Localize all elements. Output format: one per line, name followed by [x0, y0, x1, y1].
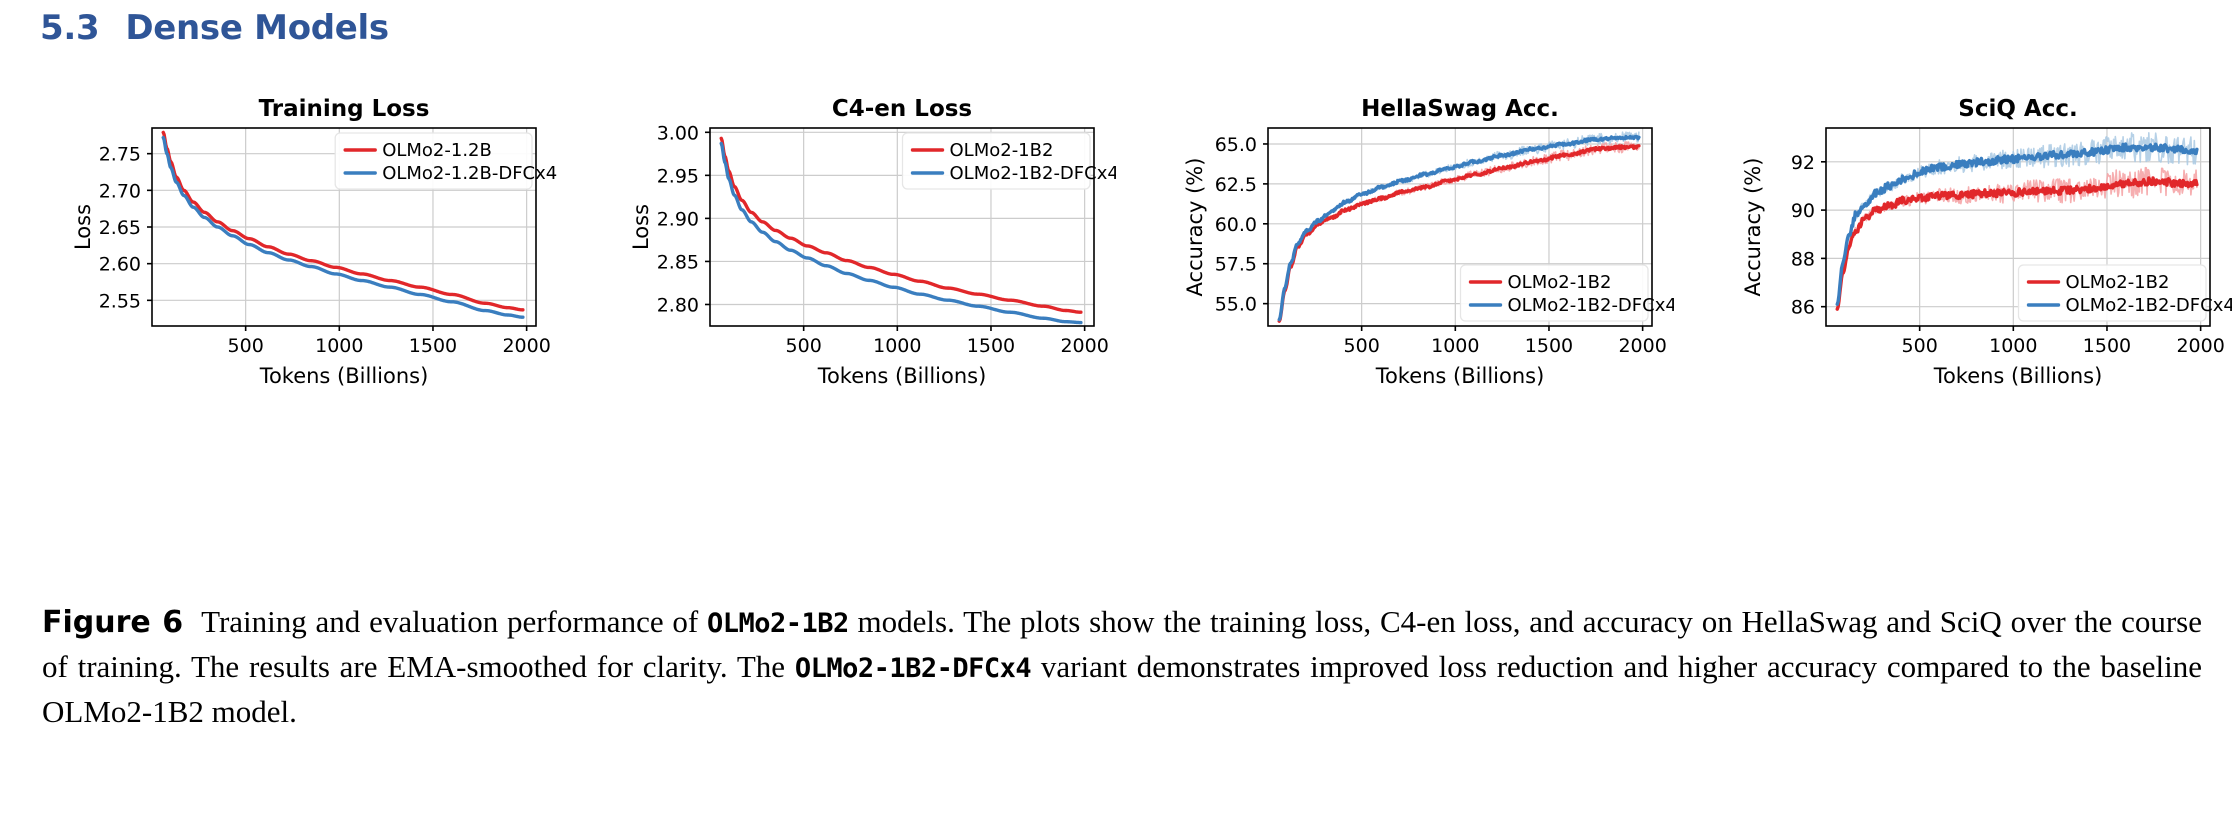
y-tick-2.60: 2.60 — [99, 254, 141, 276]
x-tick-1000: 1000 — [1431, 335, 1479, 357]
figure-panels: 5001000150020002.552.602.652.702.75Train… — [0, 88, 2234, 393]
panel-hellaswag-acc: 50010001500200055.057.560.062.565.0Hella… — [1116, 88, 1674, 393]
chart-hellaswag-acc: 50010001500200055.057.560.062.565.0Hella… — [1116, 88, 1674, 393]
chart-c4-en-loss: 5001000150020002.802.852.902.953.00C4-en… — [558, 88, 1116, 393]
chart-legend[interactable]: OLMo2-1.2BOLMo2-1.2B-DFCx4 — [335, 133, 557, 189]
figure-label: Figure 6 — [42, 605, 183, 640]
chart-title: C4-en Loss — [832, 96, 972, 122]
y-tick-88: 88 — [1791, 248, 1815, 270]
panel-sciq-acc: 50010001500200086889092SciQ Acc.Tokens (… — [1674, 88, 2232, 393]
x-tick-1000: 1000 — [1989, 335, 2037, 357]
legend-label-OLMo2-1B2: OLMo2-1B2 — [1508, 272, 1612, 293]
y-tick-2.80: 2.80 — [657, 294, 699, 316]
x-tick-2000: 2000 — [1060, 335, 1108, 357]
section-heading: 5.3 Dense Models — [40, 8, 389, 48]
x-axis-label: Tokens (Billions) — [259, 364, 429, 388]
chart-training-loss: 5001000150020002.552.602.652.702.75Train… — [0, 88, 558, 393]
y-tick-2.55: 2.55 — [99, 290, 141, 312]
chart-title: HellaSwag Acc. — [1361, 96, 1559, 122]
y-axis-label: Accuracy (%) — [1183, 158, 1207, 297]
legend-label-OLMo2-1.2B: OLMo2-1.2B — [382, 140, 492, 161]
y-tick-60.0: 60.0 — [1215, 214, 1257, 236]
x-tick-1500: 1500 — [1525, 335, 1573, 357]
x-tick-500: 500 — [1344, 335, 1380, 357]
x-tick-500: 500 — [1902, 335, 1938, 357]
x-axis-label: Tokens (Billions) — [1933, 364, 2103, 388]
y-tick-65.0: 65.0 — [1215, 134, 1257, 156]
caption-span: Training and evaluation performance of — [201, 604, 707, 639]
x-tick-1500: 1500 — [2083, 335, 2131, 357]
y-tick-92: 92 — [1791, 152, 1815, 174]
legend-label-OLMo2-1B2-DFCx4: OLMo2-1B2-DFCx4 — [2066, 295, 2233, 316]
legend-label-OLMo2-1B2-DFCx4: OLMo2-1B2-DFCx4 — [1508, 295, 1675, 316]
y-tick-55.0: 55.0 — [1215, 294, 1257, 316]
x-tick-2000: 2000 — [502, 335, 550, 357]
figure-caption-text: Training and evaluation performance of O… — [42, 604, 2202, 729]
section-title: Dense Models — [125, 8, 389, 48]
caption-code: OLMo2-1B2 — [707, 608, 849, 639]
y-tick-2.90: 2.90 — [657, 208, 699, 230]
chart-title: Training Loss — [259, 96, 430, 122]
chart-title: SciQ Acc. — [1958, 96, 2077, 122]
y-tick-2.95: 2.95 — [657, 165, 699, 187]
x-tick-2000: 2000 — [2176, 335, 2224, 357]
y-tick-86: 86 — [1791, 297, 1815, 319]
legend-label-OLMo2-1B2: OLMo2-1B2 — [950, 140, 1054, 161]
chart-legend[interactable]: OLMo2-1B2OLMo2-1B2-DFCx4 — [2019, 265, 2233, 321]
x-tick-2000: 2000 — [1618, 335, 1666, 357]
panel-training-loss: 5001000150020002.552.602.652.702.75Train… — [0, 88, 558, 393]
chart-legend[interactable]: OLMo2-1B2OLMo2-1B2-DFCx4 — [1461, 265, 1675, 321]
x-tick-1500: 1500 — [967, 335, 1015, 357]
y-tick-2.65: 2.65 — [99, 217, 141, 239]
x-tick-500: 500 — [786, 335, 822, 357]
section-number: 5.3 — [40, 8, 99, 48]
x-tick-1000: 1000 — [873, 335, 921, 357]
y-tick-57.5: 57.5 — [1215, 254, 1257, 276]
x-tick-1500: 1500 — [409, 335, 457, 357]
y-tick-3.00: 3.00 — [657, 122, 699, 144]
panel-c4-en-loss: 5001000150020002.802.852.902.953.00C4-en… — [558, 88, 1116, 393]
x-axis-label: Tokens (Billions) — [817, 364, 987, 388]
figure-page: 5.3 Dense Models 5001000150020002.552.60… — [0, 0, 2234, 830]
x-tick-500: 500 — [228, 335, 264, 357]
chart-sciq-acc: 50010001500200086889092SciQ Acc.Tokens (… — [1674, 88, 2232, 393]
caption-code: OLMo2-1B2-DFCx4 — [795, 653, 1031, 684]
y-tick-2.85: 2.85 — [657, 251, 699, 273]
x-tick-1000: 1000 — [315, 335, 363, 357]
y-axis-label: Accuracy (%) — [1741, 158, 1765, 297]
y-axis-label: Loss — [71, 204, 95, 250]
x-axis-label: Tokens (Billions) — [1375, 364, 1545, 388]
y-tick-2.75: 2.75 — [99, 144, 141, 166]
legend-label-OLMo2-1B2-DFCx4: OLMo2-1B2-DFCx4 — [950, 163, 1117, 184]
y-tick-62.5: 62.5 — [1215, 174, 1257, 196]
y-tick-90: 90 — [1791, 200, 1815, 222]
legend-label-OLMo2-1.2B-DFCx4: OLMo2-1.2B-DFCx4 — [382, 163, 557, 184]
legend-label-OLMo2-1B2: OLMo2-1B2 — [2066, 272, 2170, 293]
figure-caption: Figure 6Training and evaluation performa… — [42, 600, 2202, 733]
y-axis-label: Loss — [629, 204, 653, 250]
chart-legend[interactable]: OLMo2-1B2OLMo2-1B2-DFCx4 — [903, 133, 1117, 189]
y-tick-2.70: 2.70 — [99, 180, 141, 202]
